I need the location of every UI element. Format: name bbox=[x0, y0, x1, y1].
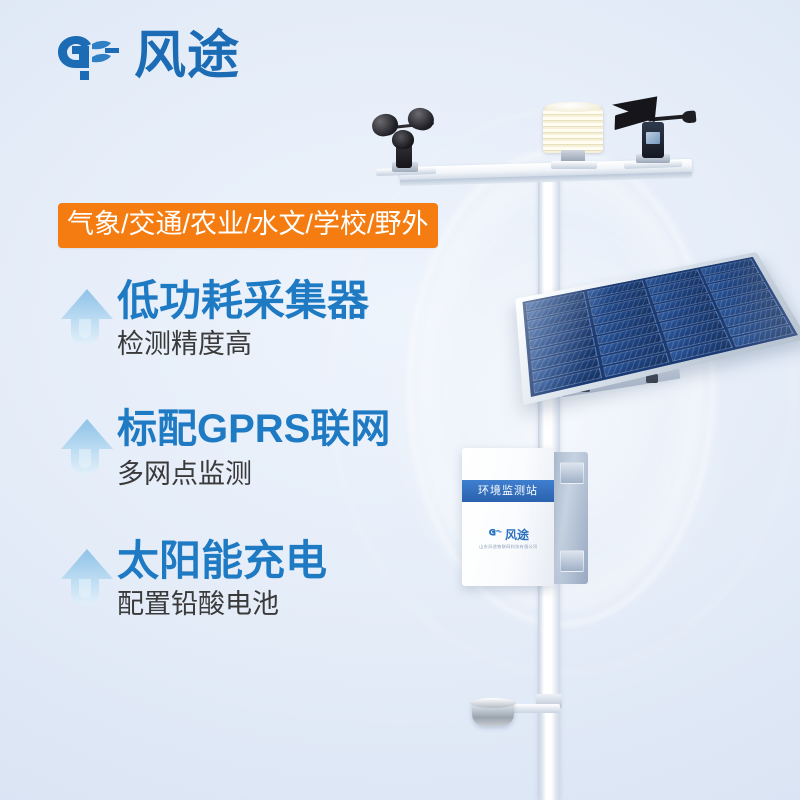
feature-subtitle: 配置铅酸电池 bbox=[117, 590, 279, 620]
wind-vane bbox=[612, 92, 696, 170]
feature-item: 太阳能充电 配置铅酸电池 bbox=[55, 538, 415, 668]
feature-title: 太阳能充电 bbox=[117, 538, 327, 583]
feature-title: 标配GPRS联网 bbox=[117, 408, 390, 451]
anemometer-cup bbox=[406, 105, 437, 133]
wind-vane-badge bbox=[646, 132, 660, 144]
feature-item: 低功耗采集器 检测精度高 bbox=[55, 278, 415, 408]
enclosure-label-band: 环境监测站 bbox=[462, 480, 554, 502]
product-poster: 风途 气象/交通/农业/水文/学校/野外 低功耗采 bbox=[0, 0, 800, 800]
radiation-shield-mount-plate bbox=[551, 161, 597, 169]
noise-sensor bbox=[470, 690, 566, 736]
fengtu-leaf-g-logo-icon bbox=[48, 28, 126, 84]
radiation-shield-top bbox=[545, 102, 601, 112]
wind-vane-nose bbox=[682, 110, 697, 123]
enclosure-brand-row: 风途 bbox=[487, 526, 529, 544]
enclosure-fineprint: 山东风途物联网科技有限公司 bbox=[479, 546, 537, 550]
enclosure-brand-name: 风途 bbox=[505, 529, 529, 541]
enclosure-pole-clamp bbox=[560, 462, 584, 484]
enclosure-front-face: 环境监测站 风途 山东风途物联网科技有限公司 bbox=[462, 448, 554, 586]
feature-subtitle: 多网点监测 bbox=[117, 460, 252, 490]
brand-logo: 风途 bbox=[48, 28, 240, 84]
feature-title: 低功耗采集器 bbox=[117, 278, 369, 323]
fengtu-leaf-g-logo-icon bbox=[487, 526, 503, 544]
enclosure-pole-clamp bbox=[560, 550, 584, 572]
enclosure-brand-block: 风途 山东风途物联网科技有限公司 bbox=[462, 526, 554, 549]
brand-name: 风途 bbox=[134, 30, 240, 82]
up-arrow-icon bbox=[57, 416, 117, 478]
up-arrow-icon bbox=[57, 286, 117, 348]
noise-sensor-rim bbox=[470, 698, 516, 708]
anemometer-cups bbox=[372, 100, 452, 170]
feature-list: 低功耗采集器 检测精度高 标配GPRS联网 多网点监测 太阳能充电 配置铅酸电池 bbox=[55, 278, 415, 668]
application-scenarios-tag: 气象/交通/农业/水文/学校/野外 bbox=[58, 203, 438, 248]
radiation-shield-louvers bbox=[543, 105, 603, 153]
anemometer-cup bbox=[392, 130, 414, 149]
enclosure-label-text: 环境监测站 bbox=[478, 486, 538, 497]
controller-enclosure: 环境监测站 风途 山东风途物联网科技有限公司 bbox=[462, 448, 582, 588]
up-arrow-icon bbox=[57, 546, 117, 608]
feature-subtitle: 检测精度高 bbox=[117, 330, 252, 360]
feature-item: 标配GPRS联网 多网点监测 bbox=[55, 408, 415, 538]
radiation-shield bbox=[543, 105, 603, 167]
